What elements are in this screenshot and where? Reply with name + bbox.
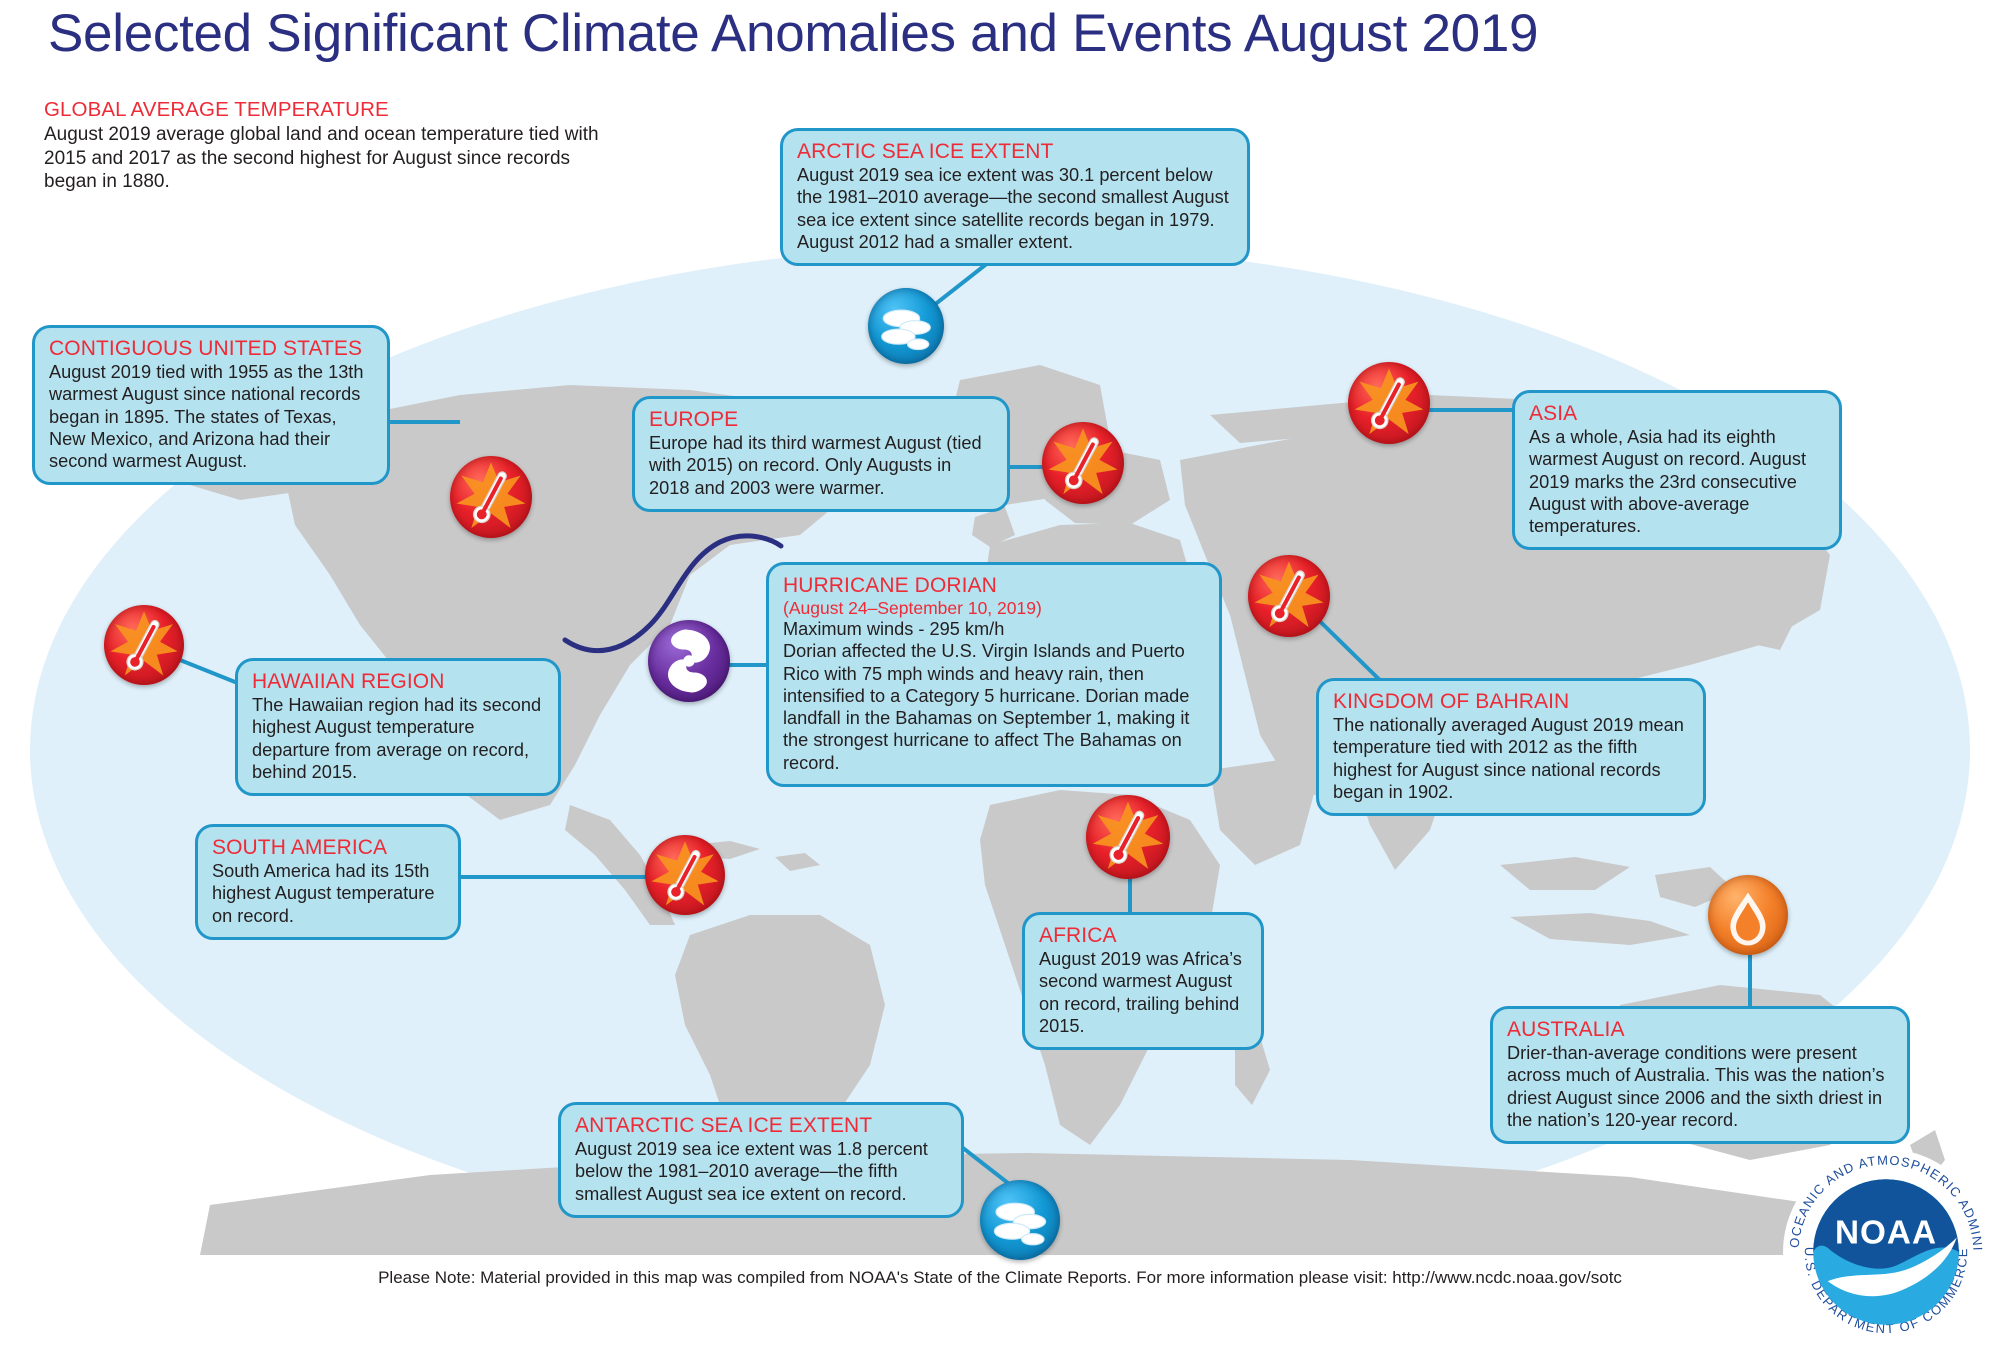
callout-body-hawaii: The Hawaiian region had its second highe…: [252, 694, 544, 783]
thermometer-icon-europe[interactable]: [1042, 422, 1124, 504]
callout-heading-bahrain: KINGDOM OF BAHRAIN: [1333, 689, 1689, 714]
callout-heading-europe: EUROPE: [649, 407, 993, 432]
page-title: Selected Significant Climate Anomalies a…: [48, 4, 1538, 64]
footnote: Please Note: Material provided in this m…: [0, 1268, 2000, 1288]
callout-body-africa: August 2019 was Africa’s second warmest …: [1039, 948, 1247, 1037]
drought-icon-australia[interactable]: [1708, 875, 1788, 955]
leader-line-south-america: [455, 875, 675, 879]
noaa-wordmark: NOAA: [1835, 1215, 1937, 1252]
callout-heading-australia: AUSTRALIA: [1507, 1017, 1893, 1042]
callout-contiguous-united-states[interactable]: CONTIGUOUS UNITED STATES August 2019 tie…: [32, 325, 390, 485]
callout-heading-antarctic: ANTARCTIC SEA ICE EXTENT: [575, 1113, 947, 1138]
callout-body-antarctic: August 2019 sea ice extent was 1.8 perce…: [575, 1138, 947, 1205]
callout-body-south-america: South America had its 15th highest Augus…: [212, 860, 444, 927]
callout-asia[interactable]: ASIA As a whole, Asia had its eighth war…: [1512, 390, 1842, 550]
global-average-temperature-heading: GLOBAL AVERAGE TEMPERATURE: [44, 98, 604, 122]
callout-body-bahrain: The nationally averaged August 2019 mean…: [1333, 714, 1689, 803]
callout-arctic-sea-ice-extent[interactable]: ARCTIC SEA ICE EXTENT August 2019 sea ic…: [780, 128, 1250, 266]
thermometer-icon-contiguous-us[interactable]: [450, 456, 532, 538]
global-average-temperature-body: August 2019 average global land and ocea…: [44, 123, 604, 194]
callout-body-australia: Drier-than-average conditions were prese…: [1507, 1042, 1893, 1131]
callout-heading-hawaii: HAWAIIAN REGION: [252, 669, 544, 694]
callout-body-arctic: August 2019 sea ice extent was 30.1 perc…: [797, 164, 1233, 253]
thermometer-icon-asia[interactable]: [1348, 362, 1430, 444]
callout-body-dorian: Dorian affected the U.S. Virgin Islands …: [783, 640, 1205, 774]
callout-heading-dorian: HURRICANE DORIAN: [783, 573, 1205, 598]
thermometer-icon-south-america[interactable]: [645, 835, 725, 915]
ice-icon-antarctic[interactable]: [980, 1180, 1060, 1260]
callout-hurricane-dorian[interactable]: HURRICANE DORIAN (August 24–September 10…: [766, 562, 1222, 787]
callout-body-europe: Europe had its third warmest August (tie…: [649, 432, 993, 499]
thermometer-icon-hawaii[interactable]: [104, 605, 184, 685]
callout-australia[interactable]: AUSTRALIA Drier-than-average conditions …: [1490, 1006, 1910, 1144]
hurricane-icon-dorian[interactable]: [648, 620, 730, 702]
ice-icon-arctic[interactable]: [868, 288, 944, 364]
callout-kingdom-of-bahrain[interactable]: KINGDOM OF BAHRAIN The nationally averag…: [1316, 678, 1706, 816]
thermometer-icon-africa[interactable]: [1086, 795, 1170, 879]
poster-canvas: Selected Significant Climate Anomalies a…: [0, 0, 2000, 1359]
callout-europe[interactable]: EUROPE Europe had its third warmest Augu…: [632, 396, 1010, 512]
callout-body-dorian-winds: Maximum winds - 295 km/h: [783, 618, 1205, 640]
callout-antarctic-sea-ice-extent[interactable]: ANTARCTIC SEA ICE EXTENT August 2019 sea…: [558, 1102, 964, 1218]
callout-subheading-dorian: (August 24–September 10, 2019): [783, 598, 1205, 618]
callout-heading-africa: AFRICA: [1039, 923, 1247, 948]
callout-heading-asia: ASIA: [1529, 401, 1825, 426]
thermometer-icon-bahrain[interactable]: [1248, 555, 1330, 637]
callout-heading-arctic: ARCTIC SEA ICE EXTENT: [797, 139, 1233, 164]
callout-body-asia: As a whole, Asia had its eighth warmest …: [1529, 426, 1825, 537]
noaa-logo: NATIONAL OCEANIC AND ATMOSPHERIC ADMINIS…: [1782, 1148, 1990, 1356]
callout-hawaiian-region[interactable]: HAWAIIAN REGION The Hawaiian region had …: [235, 658, 561, 796]
callout-body-contiguous-us: August 2019 tied with 1955 as the 13th w…: [49, 361, 373, 472]
callout-africa[interactable]: AFRICA August 2019 was Africa’s second w…: [1022, 912, 1264, 1050]
callout-heading-contiguous-us: CONTIGUOUS UNITED STATES: [49, 336, 373, 361]
global-average-temperature-block: GLOBAL AVERAGE TEMPERATURE August 2019 a…: [44, 98, 604, 194]
callout-south-america[interactable]: SOUTH AMERICA South America had its 15th…: [195, 824, 461, 940]
callout-heading-south-america: SOUTH AMERICA: [212, 835, 444, 860]
